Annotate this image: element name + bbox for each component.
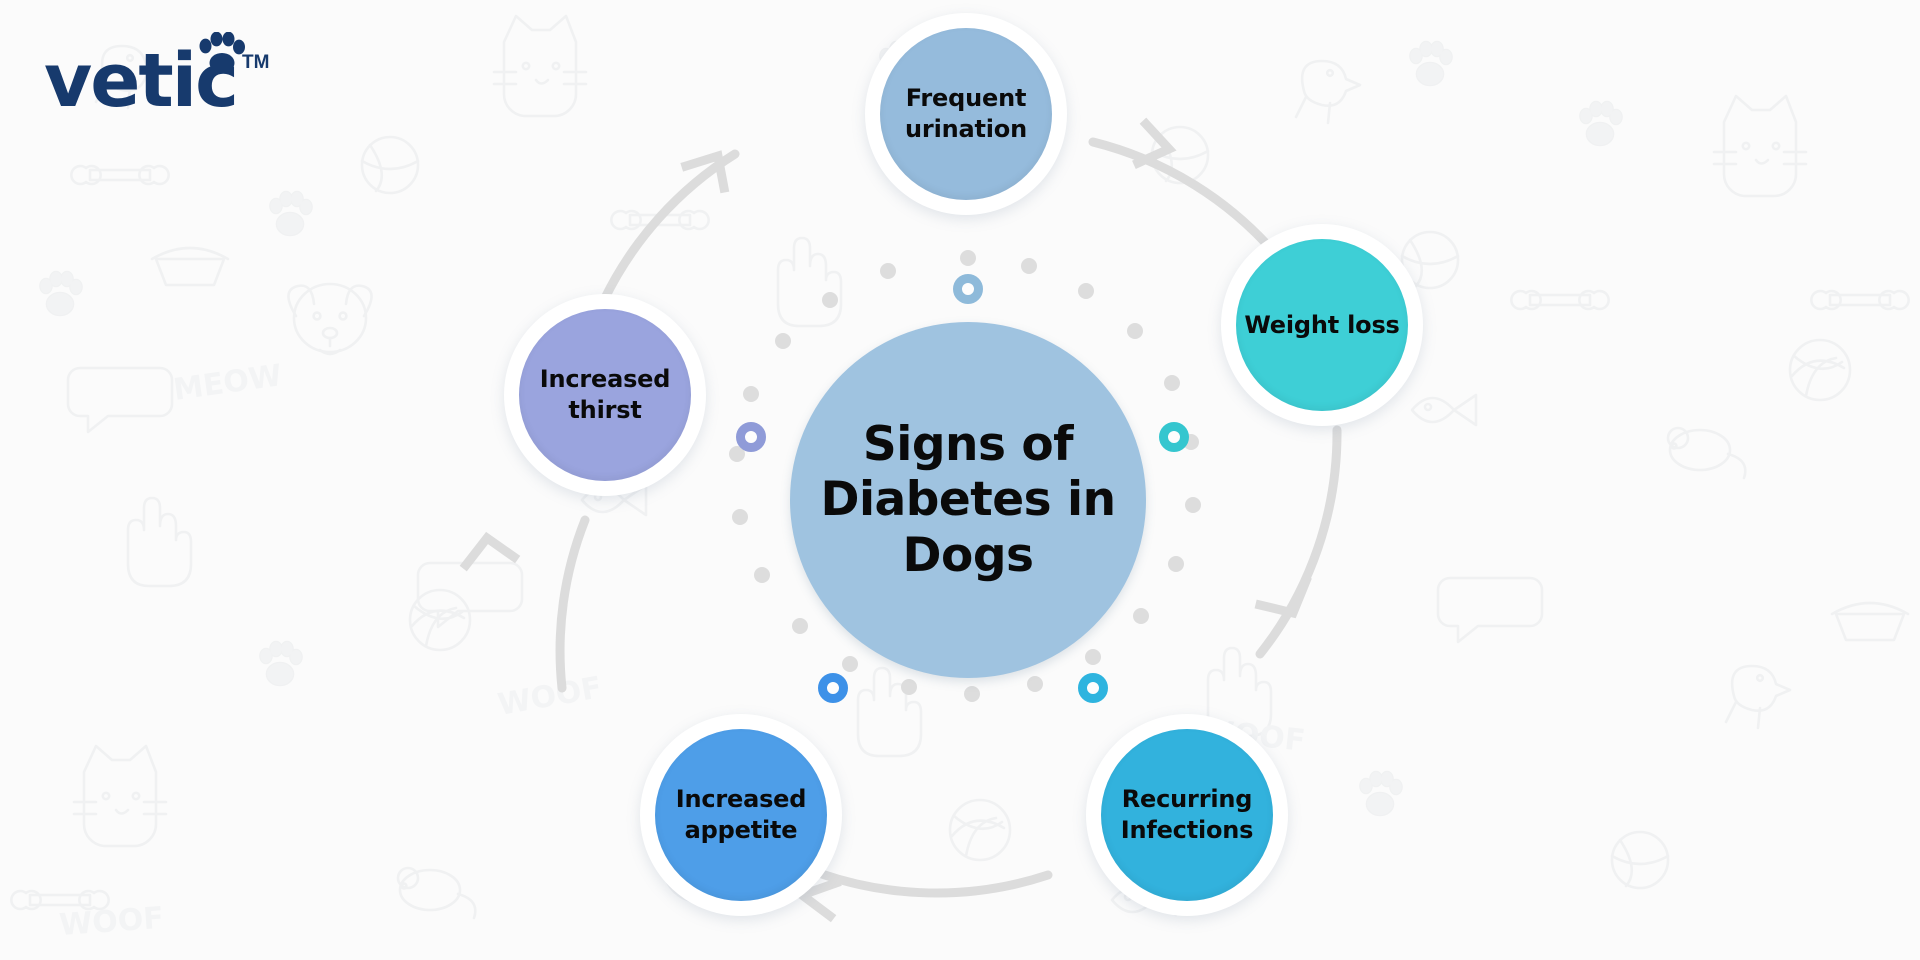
node-label: Frequent urination: [880, 83, 1052, 144]
marker-recurring-infections: [1078, 673, 1108, 703]
node-disc: Increased appetite: [655, 729, 827, 901]
marker-weight-loss: [1159, 422, 1189, 452]
marker-increased-thirst: [736, 422, 766, 452]
node-increased-appetite[interactable]: Increased appetite: [640, 714, 842, 916]
node-label: Weight loss: [1236, 310, 1407, 341]
node-frequent-urination[interactable]: Frequent urination: [865, 13, 1067, 215]
node-weight-loss[interactable]: Weight loss: [1221, 224, 1423, 426]
hub-title: Signs of Diabetes in Dogs: [790, 417, 1146, 583]
node-label: Increased thirst: [519, 364, 691, 425]
node-label: Increased appetite: [655, 784, 827, 845]
node-increased-thirst[interactable]: Increased thirst: [504, 294, 706, 496]
node-disc: Increased thirst: [519, 309, 691, 481]
marker-frequent-urination: [953, 274, 983, 304]
node-disc: Weight loss: [1236, 239, 1408, 411]
node-disc: Recurring Infections: [1101, 729, 1273, 901]
signs-of-diabetes-cycle-diagram: Signs of Diabetes in Dogs Frequent urina…: [0, 0, 1920, 960]
node-recurring-infections[interactable]: Recurring Infections: [1086, 714, 1288, 916]
infographic-canvas: MEOW WOOF WOOF WOOF vetic TM: [0, 0, 1920, 960]
node-label: Recurring Infections: [1101, 784, 1273, 845]
marker-increased-appetite: [818, 673, 848, 703]
node-disc: Frequent urination: [880, 28, 1052, 200]
hub-circle: Signs of Diabetes in Dogs: [790, 322, 1146, 678]
